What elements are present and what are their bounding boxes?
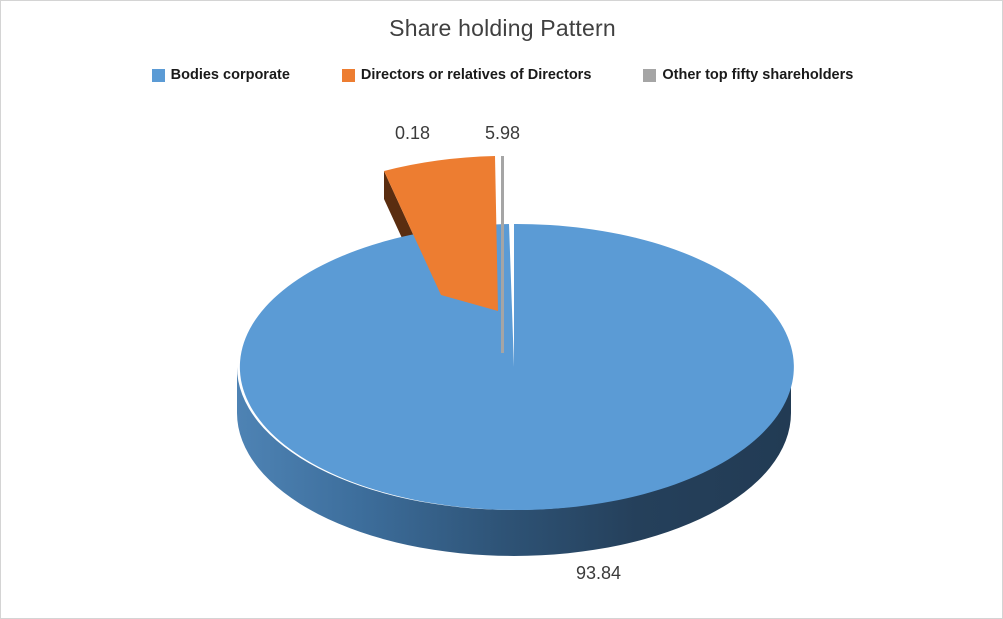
- data-label-directors: 5.98: [485, 123, 520, 144]
- pie-chart-graphic: [1, 1, 1003, 619]
- pie-slice-top-bodies-corporate: [240, 224, 794, 510]
- data-label-other-top-fifty: 0.18: [395, 123, 430, 144]
- pie-slice-top-other-top-fifty: [501, 156, 504, 353]
- chart-container: Share holding Pattern Bodies corporate D…: [0, 0, 1003, 619]
- data-label-bodies-corporate: 93.84: [576, 563, 621, 584]
